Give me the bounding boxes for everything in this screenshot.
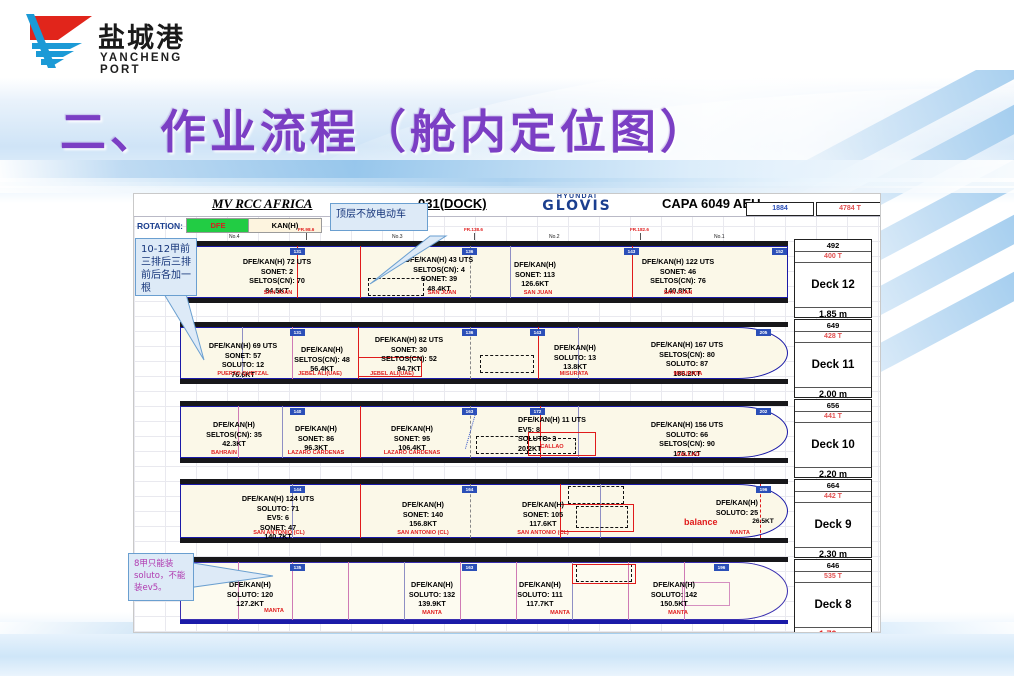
deck-9-tag-a: 144 bbox=[290, 486, 305, 493]
deck-summary-9[interactable]: 664 442 T Deck 9 2.30 m bbox=[794, 479, 872, 558]
deck-12-tag-c: 143 bbox=[624, 248, 639, 255]
vessel-name: MV RCC AFRICA bbox=[212, 196, 312, 212]
deck-summary-8[interactable]: 646 535 T Deck 8 1.70 m bbox=[794, 559, 872, 633]
deck-10-port-3: LAZARO CARDENAS bbox=[352, 450, 472, 456]
bottom-note-pointer bbox=[185, 558, 275, 604]
deck-row-11[interactable]: 131 136 143 205 DFE/KAN(H) 69 UTS SONET:… bbox=[180, 327, 788, 379]
deck-12-units: 492 bbox=[795, 240, 871, 252]
frame-tick-2 bbox=[474, 233, 475, 240]
deck-8-name: Deck 8 bbox=[795, 583, 871, 627]
deck-12-port-3: SAN JUAN bbox=[488, 290, 588, 296]
page-title: 二、作业流程（舱内定位图） bbox=[60, 96, 710, 162]
deck-12-tag-d: 152 bbox=[772, 248, 787, 255]
deck-8-units: 646 bbox=[795, 560, 871, 572]
deck-9-balance-note: balance bbox=[684, 517, 718, 527]
port-wave-logo-icon bbox=[18, 10, 96, 72]
deck-summary-12[interactable]: 492 400 T Deck 12 1.85 m bbox=[794, 239, 872, 318]
deck-10-tag-d: 202 bbox=[756, 408, 771, 415]
deck-8-bottom-rail bbox=[180, 620, 788, 624]
deck-9-port-4: MANTA bbox=[710, 530, 770, 536]
operator-main-label: GLOVIS bbox=[517, 200, 637, 212]
deck-9-name: Deck 9 bbox=[795, 503, 871, 547]
deck-9-port-3: SAN ANTONIO (CL) bbox=[480, 530, 606, 536]
deck-8-port-3: MANTA bbox=[530, 610, 590, 616]
deck-row-10[interactable]: 140 163 172 202 DFE/KAN(H) SELTOS(CN): 3… bbox=[180, 406, 788, 458]
deck-12-bottom-rail bbox=[180, 298, 788, 303]
frame-label-2: FR.138.6 bbox=[464, 227, 483, 232]
deck-8-height: 1.70 m bbox=[795, 627, 871, 633]
deck-8-tag-b: 163 bbox=[462, 564, 477, 571]
deck-11-units: 649 bbox=[795, 320, 871, 332]
deck-10-port-5: CALLAO bbox=[638, 452, 738, 458]
deck-12-port-4: SAN JUAN bbox=[628, 290, 728, 296]
top-note-pointer bbox=[330, 228, 450, 288]
total-units: 1884 bbox=[746, 202, 814, 216]
deck-11-tons: 428 T bbox=[795, 332, 871, 343]
deck-11-tag-a: 131 bbox=[290, 329, 305, 336]
deck-11-bottom-rail bbox=[180, 379, 788, 384]
deck-8-tag-c: 196 bbox=[714, 564, 729, 571]
deck-9-port-1: SAN ANTONIO (CL) bbox=[226, 530, 332, 536]
voyage-dock: 031(DOCK) bbox=[418, 196, 487, 211]
hold-label-no2: No.2 bbox=[549, 234, 560, 240]
left-note-pointer bbox=[160, 292, 230, 362]
deck-8-port-1: MANTA bbox=[244, 608, 304, 614]
deck-10-port-4: CALLAO bbox=[524, 444, 580, 450]
deck-8-block-2[interactable]: DFE/KAN(H) SOLUTO: 132 139.9KT bbox=[378, 580, 486, 609]
deck-9-balance-weight: 26.5KT bbox=[736, 517, 790, 527]
deck-10-tag-c: 172 bbox=[530, 408, 545, 415]
deck-8-tons: 535 T bbox=[795, 572, 871, 583]
deck-12-block-3[interactable]: DFE/KAN(H) SONET: 113 126.6KT bbox=[470, 260, 600, 289]
deck-11-dashed-zone bbox=[480, 355, 534, 373]
deck-12-port-1: SAN JUAN bbox=[228, 290, 328, 296]
deck-12-name: Deck 12 bbox=[795, 263, 871, 307]
deck-row-12[interactable]: 131 136 143 152 DFE/KAN(H) 72 UTS SONET:… bbox=[180, 246, 788, 298]
deck-11-block-4[interactable]: DFE/KAN(H) SOLUTO: 13 13.8KT bbox=[530, 343, 620, 372]
deck-11-port-4: MISURATA bbox=[536, 371, 612, 377]
deck-10-tons: 441 T bbox=[795, 412, 871, 423]
deck-10-units: 656 bbox=[795, 400, 871, 412]
legend-swatch-dfe: DFE bbox=[186, 218, 250, 233]
deck-8-block-4[interactable]: DFE/KAN(H) SOLUTO: 142 150.5KT bbox=[620, 580, 728, 609]
deck-9-tag-b: 164 bbox=[462, 486, 477, 493]
deck-10-bottom-rail bbox=[180, 458, 788, 463]
deck-12-port-2: SAN JUAN bbox=[392, 290, 492, 296]
deck-11-name: Deck 11 bbox=[795, 343, 871, 387]
logo-chinese-name: 盐城港 bbox=[98, 16, 185, 55]
deck-9-tag-c: 196 bbox=[756, 486, 771, 493]
deck-10-name: Deck 10 bbox=[795, 423, 871, 467]
deck-11-port-3: JEBEL ALI(UAE) bbox=[342, 371, 442, 377]
operator-logo: HYUNDAI GLOVIS bbox=[517, 193, 637, 212]
deck-10-block-3[interactable]: DFE/KAN(H) SONET: 95 106.4KT bbox=[352, 424, 472, 453]
logo-english-name: YANCHENG PORT bbox=[100, 52, 198, 76]
hold-label-no4: No.4 bbox=[229, 234, 240, 240]
deck-12-tag-a: 131 bbox=[290, 248, 305, 255]
background-band-3 bbox=[0, 186, 1014, 193]
deck-12-tag-b: 136 bbox=[462, 248, 477, 255]
frame-label-3: FR.182.6 bbox=[630, 227, 649, 232]
deck-9-port-2: SAN ANTONIO (CL) bbox=[360, 530, 486, 536]
deck-9-block-3[interactable]: DFE/KAN(H) SONET: 105 117.6KT bbox=[480, 500, 606, 529]
callout-top-note[interactable]: 顶层不放电动车 bbox=[330, 203, 428, 231]
deck-summary-10[interactable]: 656 441 T Deck 10 2.20 m bbox=[794, 399, 872, 478]
callout-left-note[interactable]: 10-12甲前三排后三排前后各加一根 bbox=[135, 238, 197, 296]
deck-8-tag-a: 135 bbox=[290, 564, 305, 571]
deck-11-block-3[interactable]: DFE/KAN(H) 82 UTS SONET: 30 SELTOS(CN): … bbox=[340, 335, 478, 373]
deck-9-tons: 442 T bbox=[795, 492, 871, 503]
frame-label-1: FR.98.6 bbox=[298, 227, 314, 232]
deck-8-port-2: MANTA bbox=[402, 610, 462, 616]
deck-12-tons: 400 T bbox=[795, 252, 871, 263]
yancheng-port-logo: 盐城港 YANCHENG PORT bbox=[18, 10, 198, 80]
deck-10-tag-a: 140 bbox=[290, 408, 305, 415]
hold-label-no1: No.1 bbox=[714, 234, 725, 240]
total-tons: 4784 T bbox=[816, 202, 881, 216]
deck-11-tag-d: 205 bbox=[756, 329, 771, 336]
deck-10-port-1: BAHRAIN bbox=[186, 450, 262, 456]
frame-tick-3 bbox=[640, 233, 641, 240]
deck-8-port-4: MANTA bbox=[648, 610, 708, 616]
rotation-label: ROTATION: bbox=[137, 221, 183, 231]
frame-tick-1 bbox=[306, 233, 307, 240]
deck-row-9[interactable]: 144 164 196 DFE/KAN(H) 124 UTS SOLUTO: 7… bbox=[180, 484, 788, 538]
deck-11-tag-c: 143 bbox=[530, 329, 545, 336]
callout-bottom-note[interactable]: 8甲只能装soluto，不能装ev5。 bbox=[128, 553, 194, 601]
deck-11-port-5: MISURATA bbox=[638, 371, 738, 377]
deck-9-block-2[interactable]: DFE/KAN(H) SONET: 140 156.8KT bbox=[360, 500, 486, 529]
deck-summary-11[interactable]: 649 428 T Deck 11 2.00 m bbox=[794, 319, 872, 398]
deck-9-units: 664 bbox=[795, 480, 871, 492]
deck-8-block-3[interactable]: DFE/KAN(H) SOLUTO: 111 117.7KT bbox=[486, 580, 594, 609]
